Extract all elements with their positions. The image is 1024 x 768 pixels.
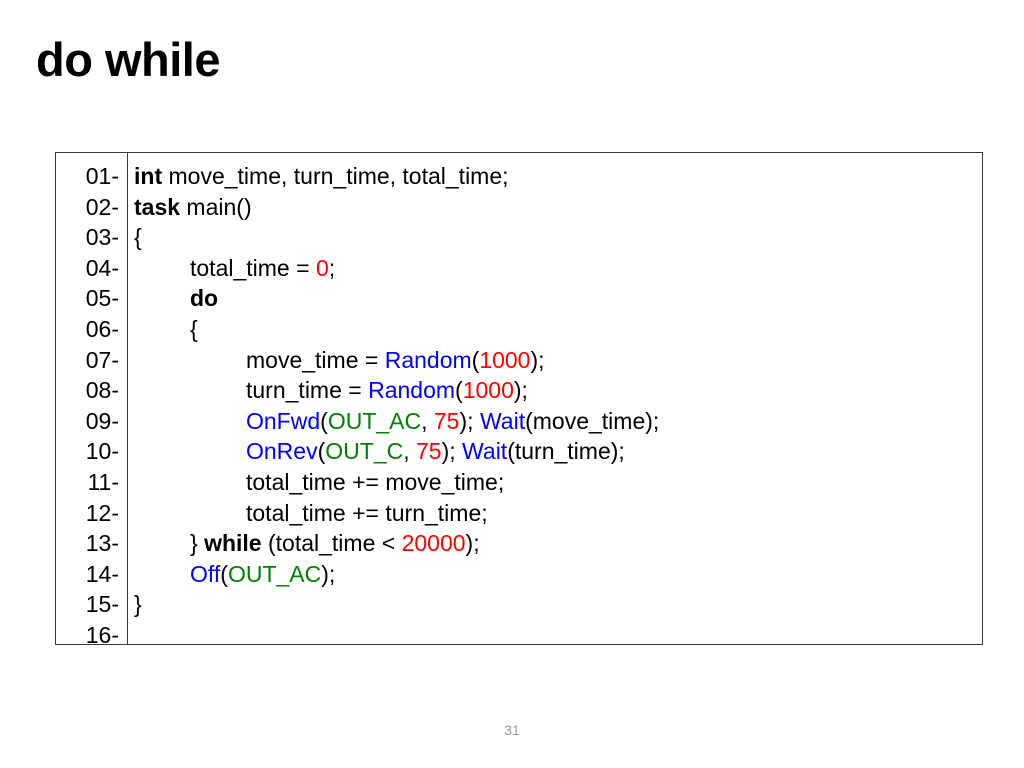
- line-number: 11-: [56, 467, 127, 498]
- code-token-plain: (total_time <: [262, 530, 402, 556]
- slide-page-number: 31: [0, 722, 1024, 738]
- code-token-kw: do: [190, 285, 218, 311]
- code-line: do: [134, 283, 982, 314]
- code-token-plain: );: [459, 408, 479, 434]
- line-number: 05-: [56, 283, 127, 314]
- line-number: 09-: [56, 406, 127, 437]
- line-number: 01-: [56, 161, 127, 192]
- code-token-kw: int: [134, 163, 162, 189]
- code-token-kw: task: [134, 194, 180, 220]
- code-line: OnFwd(OUT_AC, 75); Wait(move_time);: [134, 406, 982, 437]
- line-number: 03-: [56, 222, 127, 253]
- line-number: 14-: [56, 559, 127, 590]
- code-token-plain: );: [466, 530, 480, 556]
- line-number: 16-: [56, 620, 127, 651]
- code-token-plain: turn_time =: [246, 377, 368, 403]
- code-line: OnRev(OUT_C, 75); Wait(turn_time);: [134, 436, 982, 467]
- line-number: 02-: [56, 192, 127, 223]
- code-token-plain: (: [455, 377, 463, 403]
- code-line: total_time += move_time;: [134, 467, 982, 498]
- code-token-plain: total_time += turn_time;: [246, 500, 488, 526]
- code-token-plain: );: [514, 377, 528, 403]
- code-line: {: [134, 222, 982, 253]
- line-number: 10-: [56, 436, 127, 467]
- code-token-num: 75: [434, 408, 460, 434]
- line-number: 08-: [56, 375, 127, 406]
- code-token-plain: total_time += move_time;: [246, 469, 504, 495]
- line-number: 04-: [56, 253, 127, 284]
- line-number: 07-: [56, 345, 127, 376]
- code-token-num: 1000: [479, 347, 530, 373]
- code-token-kw: while: [204, 530, 262, 556]
- code-token-plain: move_time, turn_time, total_time;: [162, 163, 508, 189]
- code-token-fn: Off: [190, 561, 220, 587]
- line-number: 12-: [56, 498, 127, 529]
- code-line: int move_time, turn_time, total_time;: [134, 161, 982, 192]
- code-token-num: 0: [316, 255, 329, 281]
- code-listing-table: 01-02-03-04-05-06-07-08-09-10-11-12-13-1…: [55, 152, 983, 645]
- line-number: 13-: [56, 528, 127, 559]
- code-token-plain: (move_time);: [525, 408, 659, 434]
- code-area: int move_time, turn_time, total_time;tas…: [128, 153, 982, 644]
- code-token-fn: Wait: [480, 408, 525, 434]
- code-token-plain: ,: [421, 408, 434, 434]
- code-token-num: 20000: [402, 530, 466, 556]
- code-token-plain: );: [321, 561, 335, 587]
- code-token-fn: OnRev: [246, 438, 318, 464]
- code-token-plain: );: [442, 438, 462, 464]
- code-token-const: OUT_AC: [228, 561, 321, 587]
- code-token-plain: {: [134, 224, 142, 250]
- code-line: total_time = 0;: [134, 253, 982, 284]
- code-token-const: OUT_AC: [328, 408, 421, 434]
- code-line: move_time = Random(1000);: [134, 345, 982, 376]
- code-token-plain: (turn_time);: [507, 438, 625, 464]
- code-token-plain: );: [530, 347, 544, 373]
- code-token-plain: }: [190, 530, 204, 556]
- code-token-plain: (: [320, 408, 328, 434]
- code-token-plain: total_time =: [190, 255, 316, 281]
- line-number: 15-: [56, 589, 127, 620]
- code-token-fn: OnFwd: [246, 408, 320, 434]
- code-line: }: [134, 589, 982, 620]
- code-token-plain: main(): [180, 194, 252, 220]
- code-token-fn: Random: [368, 377, 455, 403]
- line-number-gutter: 01-02-03-04-05-06-07-08-09-10-11-12-13-1…: [56, 153, 128, 644]
- page-title: do while: [36, 35, 220, 84]
- code-line: {: [134, 314, 982, 345]
- code-line: Off(OUT_AC);: [134, 559, 982, 590]
- code-line: [134, 620, 982, 644]
- code-line: total_time += turn_time;: [134, 498, 982, 529]
- code-token-plain: }: [134, 591, 142, 617]
- code-token-plain: ,: [403, 438, 416, 464]
- code-token-plain: (: [220, 561, 228, 587]
- line-number: 06-: [56, 314, 127, 345]
- code-token-plain: {: [190, 316, 198, 342]
- code-token-const: OUT_C: [325, 438, 403, 464]
- code-token-plain: move_time =: [246, 347, 385, 373]
- code-line: } while (total_time < 20000);: [134, 528, 982, 559]
- code-token-plain: ;: [329, 255, 335, 281]
- code-token-fn: Random: [385, 347, 472, 373]
- code-token-num: 1000: [463, 377, 514, 403]
- code-line: turn_time = Random(1000);: [134, 375, 982, 406]
- code-token-num: 75: [416, 438, 442, 464]
- code-token-fn: Wait: [462, 438, 507, 464]
- code-line: task main(): [134, 192, 982, 223]
